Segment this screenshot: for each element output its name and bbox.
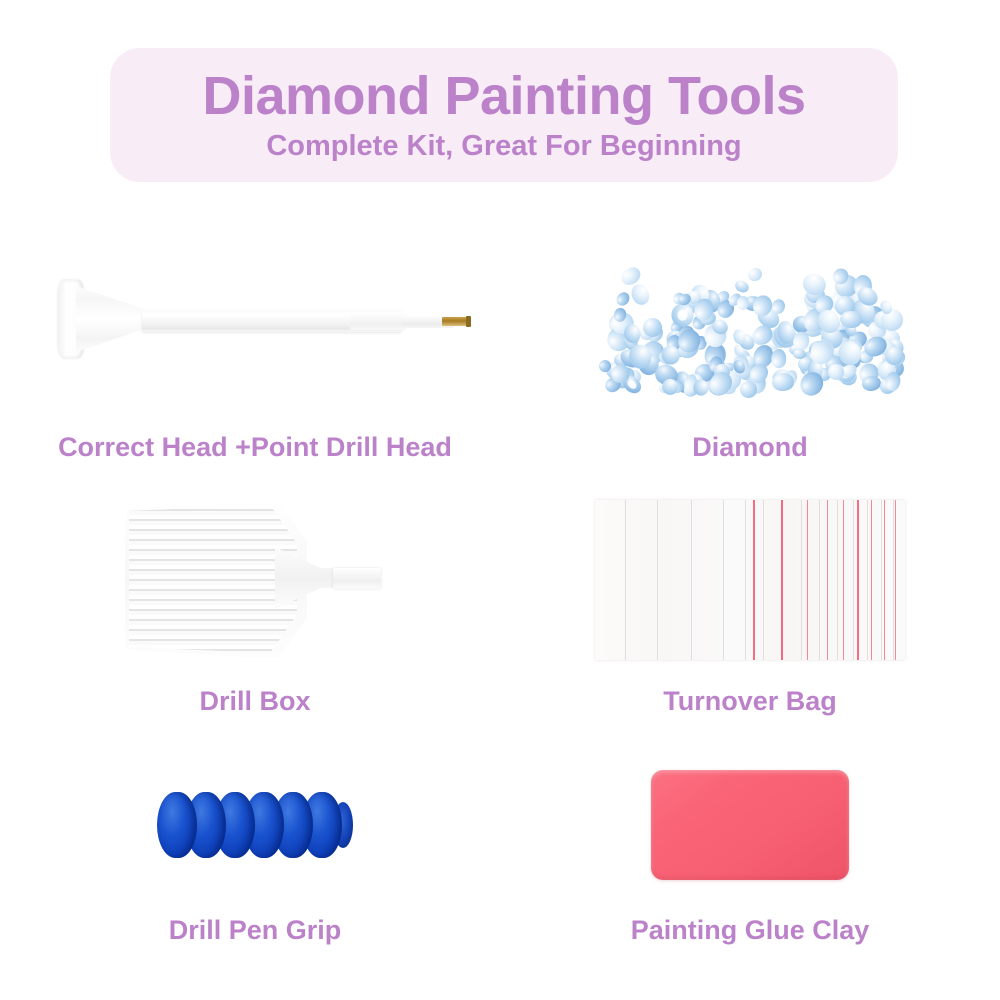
bag-fold-line xyxy=(853,500,854,660)
diamond-bead xyxy=(861,375,882,393)
bag-red-stripe xyxy=(871,500,872,660)
bag-red-stripe xyxy=(753,500,755,660)
bag-red-stripe xyxy=(781,500,783,660)
product-infographic: Diamond Painting Tools Complete Kit, Gre… xyxy=(0,0,1000,1000)
product-item-drill-pen: Correct Head +Point Drill Head xyxy=(10,230,500,463)
drill-pen-image xyxy=(10,230,500,410)
product-grid: Correct Head +Point Drill Head Diamond D… xyxy=(0,200,1000,1000)
diamond-bead xyxy=(642,317,662,337)
product-label-drill-pen: Correct Head +Point Drill Head xyxy=(58,432,452,463)
product-item-drill-box: Drill Box xyxy=(10,480,500,717)
bag-fold-line xyxy=(801,500,802,660)
bag-fold-line xyxy=(881,500,882,660)
bag-red-stripe xyxy=(827,500,828,660)
bag-red-stripe xyxy=(895,500,896,660)
tray-ribs xyxy=(129,505,297,653)
product-label-glue-clay: Painting Glue Clay xyxy=(631,915,870,946)
product-label-drill-box: Drill Box xyxy=(199,686,310,717)
drill-pen-illustration xyxy=(50,270,470,370)
diamond-bead xyxy=(629,281,652,307)
pen-flare-shape xyxy=(76,286,146,352)
bag-red-stripe xyxy=(857,500,859,660)
tray-spout xyxy=(333,568,381,589)
diamond-image xyxy=(510,230,990,410)
bag-fold-line xyxy=(745,500,746,660)
product-label-diamond: Diamond xyxy=(692,432,808,463)
zip-bag-illustration xyxy=(595,500,905,660)
bag-fold-line xyxy=(691,500,692,660)
bag-fold-line xyxy=(657,500,658,660)
drill-box-image xyxy=(10,480,500,680)
bag-fold-line xyxy=(837,500,838,660)
bag-red-stripe xyxy=(884,500,885,660)
glue-clay-image xyxy=(510,755,990,895)
diamond-drills-pile xyxy=(595,240,905,400)
product-label-pen-grip: Drill Pen Grip xyxy=(169,915,342,946)
grip-segment xyxy=(157,792,197,858)
product-label-turnover-bag: Turnover Bag xyxy=(663,686,837,717)
diamond-bead xyxy=(693,379,709,396)
bag-fold-line xyxy=(763,500,764,660)
glue-clay-block xyxy=(651,770,849,880)
turnover-bag-image xyxy=(510,480,990,680)
bag-fold-line xyxy=(723,500,724,660)
bag-red-stripe xyxy=(843,500,844,660)
header-panel: Diamond Painting Tools Complete Kit, Gre… xyxy=(110,48,898,182)
product-item-glue-clay: Painting Glue Clay xyxy=(510,755,990,946)
diamond-bead xyxy=(614,289,632,307)
drill-tray-illustration xyxy=(125,495,385,665)
pen-grip-illustration xyxy=(157,788,353,862)
pen-grip-image xyxy=(10,755,500,895)
bag-fold-line xyxy=(893,500,894,660)
diamond-bead xyxy=(734,278,751,294)
product-item-diamond: Diamond xyxy=(510,230,990,463)
page-subtitle: Complete Kit, Great For Beginning xyxy=(266,131,741,161)
page-title: Diamond Painting Tools xyxy=(203,68,806,125)
product-item-turnover-bag: Turnover Bag xyxy=(510,480,990,717)
diamond-bead xyxy=(746,266,764,283)
pen-barrel-band xyxy=(350,312,406,330)
bag-red-stripe xyxy=(807,500,808,660)
product-item-pen-grip: Drill Pen Grip xyxy=(10,755,500,946)
bag-fold-line xyxy=(867,500,868,660)
bag-fold-line xyxy=(625,500,626,660)
pen-tip-end xyxy=(466,316,471,327)
bag-fold-line xyxy=(819,500,820,660)
